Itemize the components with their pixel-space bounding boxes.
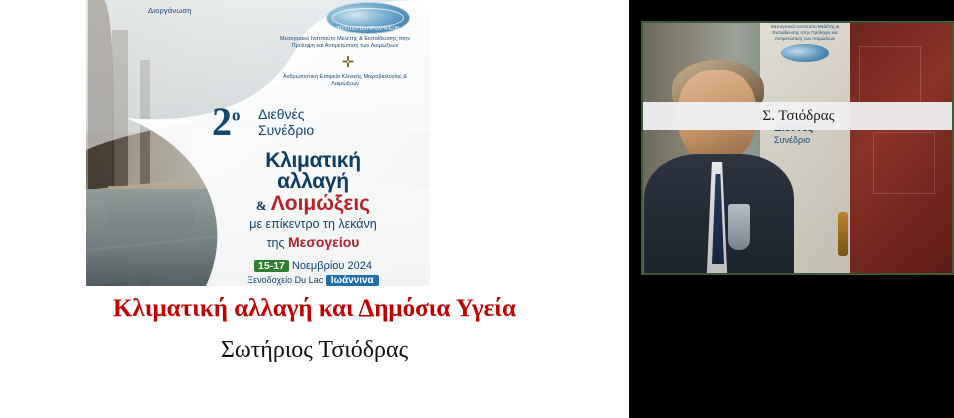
poster-subtitle-prefix: της xyxy=(267,236,288,250)
speaker-video-frame[interactable]: Μεσογειακό Ινστιτούτο Μελέτης & Εκπαίδευ… xyxy=(642,22,953,274)
slide-text-block: Κλιματική αλλαγή και Δημόσια Υγεία Σωτήρ… xyxy=(0,295,629,363)
poster-edition-number: 2ο xyxy=(212,98,241,145)
poster-venue-badge: Ιωάννινα xyxy=(326,275,379,286)
poster-edition-word-1: Διεθνές xyxy=(258,106,314,122)
logo-badge-text: ΙΝΣΤΙΤΟΥΤΟ ΠΡΟΛΗΨΕΩΝ xyxy=(326,26,410,32)
presentation-slide-panel: Διοργάνωση ΙΝΣΤΙΤΟΥΤΟ ΠΡΟΛΗΨΕΩΝ Μεσογεια… xyxy=(0,0,629,418)
water-glass xyxy=(728,204,750,250)
backdrop-square-2 xyxy=(873,132,935,194)
poster-subtitle-line-2: της Μεσογείου xyxy=(202,234,424,252)
logo-ring xyxy=(332,8,404,28)
poster-institute-logo: ΙΝΣΤΙΤΟΥΤΟ ΠΡΟΛΗΨΕΩΝ xyxy=(326,2,410,34)
speaker-name-bar: Σ. Τσιόδρας xyxy=(643,102,953,130)
video-banner-title-line-2: Συνέδριο xyxy=(774,135,813,145)
microphone-icon xyxy=(838,212,848,256)
speaker-name: Σ. Τσιόδρας xyxy=(762,108,834,125)
poster-organizer-label: Διοργάνωση xyxy=(148,6,192,15)
video-banner-organizer: Μεσογειακό Ινστιτούτο Μελέτης & Εκπαίδευ… xyxy=(760,24,850,42)
poster-subtitle-highlight: Μεσογείου xyxy=(288,234,359,250)
video-banner-logo-icon xyxy=(781,44,829,62)
poster-title-conjunction-row: & Λοιμώξεις xyxy=(202,193,424,215)
poster-organizer-line-2: Ανθρωπιστική Εταιρεία Κλινικής Μικροβιολ… xyxy=(270,74,420,88)
poster-date-text: Νοεμβρίου 2024 xyxy=(292,260,372,272)
poster-body: 2ο Διεθνές Συνέδριο Κλιματική αλλαγή & Λ… xyxy=(202,104,424,286)
poster-title-line-1: Κλιματική xyxy=(202,150,424,171)
speaker-video-panel[interactable]: Μεσογειακό Ινστιτούτο Μελέτης & Εκπαίδευ… xyxy=(641,0,954,418)
poster-title-line-2: αλλαγή xyxy=(202,171,424,192)
poster-date-badge: 15-17 xyxy=(254,260,289,272)
poster-edition-words: Διεθνές Συνέδριο xyxy=(258,106,314,138)
poster-venue-row: Ξενοδοχείο Du Lac Ιωάννινα xyxy=(202,275,424,286)
backdrop-square-1 xyxy=(859,46,921,108)
slide-title: Κλιματική αλλαγή και Δημόσια Υγεία xyxy=(0,295,629,323)
poster-organizer-line-1: Μεσογειακό Ινστιτούτο Μελέτης & Εκπαίδευ… xyxy=(270,36,420,50)
poster-kiosk xyxy=(108,186,194,226)
panel-divider xyxy=(629,0,641,418)
screen-share-view: Διοργάνωση ΙΝΣΤΙΤΟΥΤΟ ΠΡΟΛΗΨΕΩΝ Μεσογεια… xyxy=(0,0,954,418)
poster-date-row: 15-17 Νοεμβρίου 2024 xyxy=(202,260,424,272)
edition-digit: 2 xyxy=(212,99,232,144)
orthodox-cross-icon: ✛ xyxy=(340,56,356,74)
poster-header: Διοργάνωση ΙΝΣΤΙΤΟΥΤΟ ΠΡΟΛΗΨΕΩΝ Μεσογεια… xyxy=(212,0,430,92)
conference-poster-image: Διοργάνωση ΙΝΣΤΙΤΟΥΤΟ ΠΡΟΛΗΨΕΩΝ Μεσογεια… xyxy=(86,0,430,286)
slide-author: Σωτήριος Τσιόδρας xyxy=(0,337,629,363)
poster-tree-mid xyxy=(112,30,128,286)
edition-ordinal: ο xyxy=(232,106,241,125)
poster-venue-text: Ξενοδοχείο Du Lac xyxy=(247,275,323,285)
poster-ampersand: & xyxy=(256,198,267,213)
poster-edition-line: 2ο Διεθνές Συνέδριο xyxy=(202,104,424,150)
poster-tree-left xyxy=(88,0,114,286)
poster-edition-word-2: Συνέδριο xyxy=(258,122,314,138)
poster-subtitle-line-1: με επίκεντρο τη λεκάνη xyxy=(202,217,424,233)
poster-tree-right xyxy=(140,60,150,286)
poster-title-red: Λοιμώξεις xyxy=(271,192,370,215)
video-backdrop-panel xyxy=(849,22,953,274)
